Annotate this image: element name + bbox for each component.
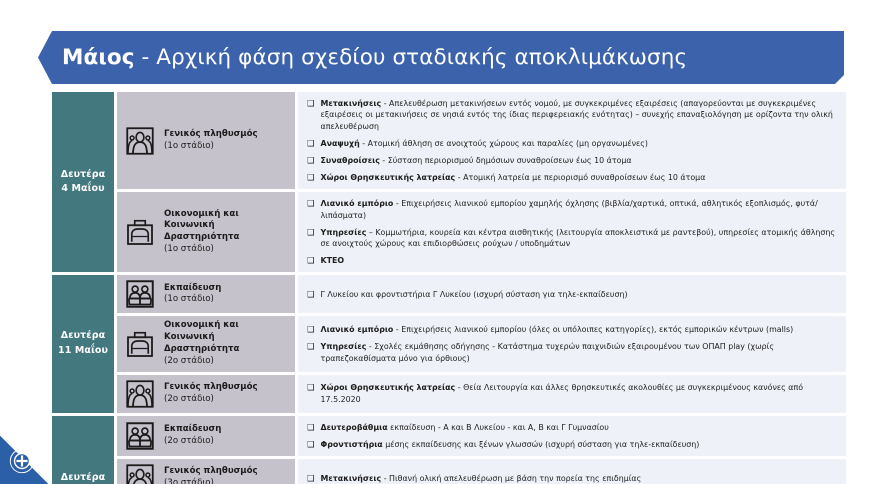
checkbox-bullet-icon: ❑ [307,341,315,364]
checkbox-bullet-icon: ❑ [307,439,315,450]
row-list: Γενικός πληθυσμός(1ο στάδιο)❑Μετακινήσει… [117,92,846,272]
category-name: Εκπαίδευση [164,424,221,436]
measure-text: Λιανικό εμπόριο - Επιχειρήσεις λιανικού … [321,198,838,221]
general-population-icon [125,463,155,484]
measure-lead: Αναψυχή [321,139,360,148]
measure-text: Δευτεροβάθμια εκπαίδευση - Α και Β Λυκεί… [321,422,838,433]
measure-detail: - Επιχειρήσεις λιανικού εμπορίου (όλες ο… [393,325,793,334]
category-cell: Εκπαίδευση(2ο στάδιο) [117,416,295,456]
checkbox-bullet-icon: ❑ [307,155,315,166]
measure-item: ❑Δευτεροβάθμια εκπαίδευση - Α και Β Λυκε… [307,422,838,433]
category-stage: (2ο στάδιο) [164,356,289,368]
date-cell: Δευτέρα11 Μαΐου [52,275,114,412]
category-stage: (1ο στάδιο) [164,294,221,306]
row-list: Εκπαίδευση(1ο στάδιο)❑Γ Λυκείου και φρον… [117,275,846,412]
checkbox-bullet-icon: ❑ [307,382,315,405]
measure-lead: Χώροι Θρησκευτικής λατρείας [321,383,456,392]
schedule-row: Γενικός πληθυσμός(1ο στάδιο)❑Μετακινήσει… [117,92,846,189]
category-cell: Οικονομική και Κοινωνική Δραστηριότητα(1… [117,192,295,272]
measure-item: ❑Γ Λυκείου και φροντιστήρια Γ Λυκείου (ι… [307,289,838,300]
measure-detail: Γ Λυκείου και φροντιστήρια Γ Λυκείου (ισ… [321,290,628,299]
date-day: Δευτέρα [61,329,105,344]
checkbox-bullet-icon: ❑ [307,289,315,300]
measure-item: ❑ΚΤΕΟ [307,255,838,266]
measure-item: ❑Υπηρεσίες - Σχολές εκμάθησης οδήγησης -… [307,341,838,364]
measure-item: ❑Υπηρεσίες – Κομμωτήρια, κουρεία και κέν… [307,227,838,250]
measure-detail: - Σχολές εκμάθησης οδήγησης - Κατάστημα … [321,342,774,362]
category-stage: (1ο στάδιο) [164,244,289,256]
checkbox-bullet-icon: ❑ [307,172,315,183]
measure-text: Γ Λυκείου και φροντιστήρια Γ Λυκείου (ισ… [321,289,838,300]
measure-detail: - Ατομική λατρεία με περιορισμό συναθροί… [455,173,705,182]
category-name: Γενικός πληθυσμός [164,129,258,141]
title-month: Μάιος [62,45,135,70]
measure-text: Υπηρεσίες – Κομμωτήρια, κουρεία και κέντ… [321,227,838,250]
category-stage: (1ο στάδιο) [164,141,258,153]
measure-item: ❑Χώροι Θρησκευτικής λατρείας - Ατομική λ… [307,172,838,183]
checkbox-bullet-icon: ❑ [307,422,315,433]
date-group: Δευτέρα4 ΜαΐουΓενικός πληθυσμός(1ο στάδι… [52,92,846,272]
measure-lead: Δευτεροβάθμια [321,423,388,432]
date-cell: Δευτέρα4 Μαΐου [52,92,114,272]
measure-detail: – Κομμωτήρια, κουρεία και κέντρα αισθητι… [321,228,836,248]
measure-detail: - Σύσταση περιορισμού δημόσιων συναθροίσ… [380,156,632,165]
schedule-row: Γενικός πληθυσμός(2ο στάδιο)❑Χώροι Θρησκ… [117,375,846,413]
schedule-row: Εκπαίδευση(2ο στάδιο)❑Δευτεροβάθμια εκπα… [117,416,846,456]
measures-cell: ❑Δευτεροβάθμια εκπαίδευση - Α και Β Λυκε… [298,416,846,456]
category-stage: (3ο στάδιο) [164,478,258,484]
schedule-row: Οικονομική και Κοινωνική Δραστηριότητα(1… [117,192,846,272]
measure-item: ❑Λιανικό εμπόριο - Επιχειρήσεις λιανικού… [307,198,838,221]
date-date: 11 Μαΐου [58,344,108,359]
measure-text: Αναψυχή - Ατομική άθληση σε ανοιχτούς χώ… [321,138,838,149]
title-banner: Μάιος - Αρχική φάση σχεδίου σταδιακής απ… [38,31,844,84]
measure-lead: Μετακινήσεις [321,474,382,483]
category-stage: (2ο στάδιο) [164,394,258,406]
education-icon [125,279,155,309]
checkbox-bullet-icon: ❑ [307,138,315,149]
schedule-row: Οικονομική και Κοινωνική Δραστηριότητα(2… [117,316,846,371]
measure-detail: - Πιθανή ολική απελευθέρωση με βάση την … [381,474,641,483]
measure-lead: Χώροι Θρησκευτικής λατρείας [321,173,456,182]
measure-lead: Λιανικό εμπόριο [321,325,394,334]
category-cell: Γενικός πληθυσμός(2ο στάδιο) [117,375,295,413]
category-name: Εκπαίδευση [164,283,221,295]
checkbox-bullet-icon: ❑ [307,255,315,266]
measure-text: Λιανικό εμπόριο - Επιχειρήσεις λιανικού … [321,324,838,335]
measure-text: Συναθροίσεις - Σύσταση περιορισμού δημόσ… [321,155,838,166]
measure-text: Χώροι Θρησκευτικής λατρείας - Ατομική λα… [321,172,838,183]
date-group: Δευτέρα18 ΜαΐουΕκπαίδευση(2ο στάδιο)❑Δευ… [52,416,846,484]
measure-text: Υπηρεσίες - Σχολές εκμάθησης οδήγησης - … [321,341,838,364]
category-text: Οικονομική και Κοινωνική Δραστηριότητα(1… [164,209,289,256]
measure-lead: Λιανικό εμπόριο [321,199,394,208]
title-separator: - [135,45,157,70]
measure-lead: ΚΤΕΟ [321,256,345,265]
measure-lead: Μετακινήσεις [321,99,382,108]
measure-text: Φροντιστήρια μέσης εκπαίδευσης και ξένων… [321,439,838,450]
measure-text: Χώροι Θρησκευτικής λατρείας - Θεία Λειτο… [321,382,838,405]
measure-detail: - Ατομική άθληση σε ανοιχτούς χώρους και… [360,139,648,148]
measure-detail: - Απελευθέρωση μετακινήσεων εντός νομού,… [321,99,833,131]
measure-detail: μέσης εκπαίδευσης και ξένων γλωσσών (ισχ… [383,440,700,449]
measure-item: ❑Συναθροίσεις - Σύσταση περιορισμού δημό… [307,155,838,166]
page-title: Μάιος - Αρχική φάση σχεδίου σταδιακής απ… [62,46,687,70]
measures-cell: ❑Χώροι Θρησκευτικής λατρείας - Θεία Λειτ… [298,375,846,413]
measure-detail: εκπαίδευση - Α και Β Λυκείου - και Α, Β … [388,423,609,432]
education-icon [125,421,155,451]
date-date: 4 Μαΐου [61,182,104,197]
checkbox-bullet-icon: ❑ [307,473,315,484]
measures-cell: ❑Γ Λυκείου και φροντιστήρια Γ Λυκείου (ι… [298,275,846,313]
measures-cell: ❑Μετακινήσεις - Πιθανή ολική απελευθέρωσ… [298,459,846,484]
date-day: Δευτέρα [61,471,105,484]
economic-social-activity-icon [125,217,155,247]
date-group: Δευτέρα11 ΜαΐουΕκπαίδευση(1ο στάδιο)❑Γ Λ… [52,275,846,412]
measure-lead: Φροντιστήρια [321,440,383,449]
measure-item: ❑Λιανικό εμπόριο - Επιχειρήσεις λιανικού… [307,324,838,335]
measure-item: ❑Φροντιστήρια μέσης εκπαίδευσης και ξένω… [307,439,838,450]
measures-cell: ❑Μετακινήσεις - Απελευθέρωση μετακινήσεω… [298,92,846,189]
measure-item: ❑Αναψυχή - Ατομική άθληση σε ανοιχτούς χ… [307,138,838,149]
schedule-row: Γενικός πληθυσμός(3ο στάδιο)❑Μετακινήσει… [117,459,846,484]
checkbox-bullet-icon: ❑ [307,198,315,221]
measures-cell: ❑Λιανικό εμπόριο - Επιχειρήσεις λιανικού… [298,316,846,371]
measure-text: ΚΤΕΟ [321,255,838,266]
measure-text: Μετακινήσεις - Απελευθέρωση μετακινήσεων… [321,98,838,132]
measure-item: ❑Μετακινήσεις - Πιθανή ολική απελευθέρωσ… [307,473,838,484]
category-cell: Εκπαίδευση(1ο στάδιο) [117,275,295,313]
row-list: Εκπαίδευση(2ο στάδιο)❑Δευτεροβάθμια εκπα… [117,416,846,484]
measure-item: ❑Μετακινήσεις - Απελευθέρωση μετακινήσεω… [307,98,838,132]
measure-text: Μετακινήσεις - Πιθανή ολική απελευθέρωση… [321,473,838,484]
category-cell: Γενικός πληθυσμός(3ο στάδιο) [117,459,295,484]
category-text: Γενικός πληθυσμός(3ο στάδιο) [164,466,258,484]
category-stage: (2ο στάδιο) [164,436,221,448]
hellenic-republic-logo [0,422,62,484]
category-cell: Οικονομική και Κοινωνική Δραστηριότητα(2… [117,316,295,371]
category-name: Γενικός πληθυσμός [164,466,258,478]
general-population-icon [125,126,155,156]
general-population-icon [125,379,155,409]
category-cell: Γενικός πληθυσμός(1ο στάδιο) [117,92,295,189]
measures-cell: ❑Λιανικό εμπόριο - Επιχειρήσεις λιανικού… [298,192,846,272]
measure-detail: - Επιχειρήσεις λιανικού εμπορίου χαμηλής… [321,199,818,219]
category-text: Γενικός πληθυσμός(1ο στάδιο) [164,129,258,153]
category-text: Γενικός πληθυσμός(2ο στάδιο) [164,382,258,406]
measure-item: ❑Χώροι Θρησκευτικής λατρείας - Θεία Λειτ… [307,382,838,405]
checkbox-bullet-icon: ❑ [307,324,315,335]
schedule-table: Δευτέρα4 ΜαΐουΓενικός πληθυσμός(1ο στάδι… [52,92,846,480]
category-name: Οικονομική και Κοινωνική Δραστηριότητα [164,320,289,356]
economic-social-activity-icon [125,329,155,359]
schedule-row: Εκπαίδευση(1ο στάδιο)❑Γ Λυκείου και φρον… [117,275,846,313]
date-day: Δευτέρα [61,168,105,183]
category-text: Εκπαίδευση(1ο στάδιο) [164,283,221,307]
measure-lead: Υπηρεσίες [321,342,367,351]
measure-lead: Υπηρεσίες [321,228,367,237]
category-text: Εκπαίδευση(2ο στάδιο) [164,424,221,448]
checkbox-bullet-icon: ❑ [307,98,315,132]
checkbox-bullet-icon: ❑ [307,227,315,250]
hellenic-republic-emblem-icon [9,448,35,474]
measure-lead: Συναθροίσεις [321,156,380,165]
category-name: Οικονομική και Κοινωνική Δραστηριότητα [164,209,289,245]
category-text: Οικονομική και Κοινωνική Δραστηριότητα(2… [164,320,289,367]
title-subtitle: Αρχική φάση σχεδίου σταδιακής αποκλιμάκω… [156,45,687,70]
category-name: Γενικός πληθυσμός [164,382,258,394]
